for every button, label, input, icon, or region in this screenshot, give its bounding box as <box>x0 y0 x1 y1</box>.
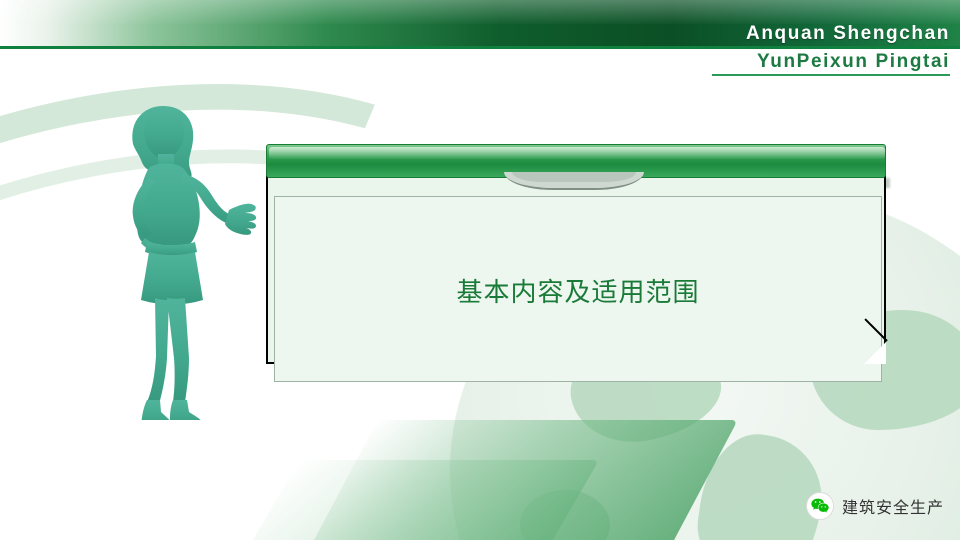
panel-cap-gloss <box>269 147 885 159</box>
slide-canvas: Anquan Shengchan YunPeixun Pingtai <box>0 0 960 540</box>
wechat-badge: 建筑安全生产 <box>806 492 944 520</box>
panel-folded-corner <box>864 342 886 364</box>
wechat-label: 建筑安全生产 <box>842 494 944 518</box>
panel-body: 基本内容及适用范围 <box>266 166 886 364</box>
content-panel: 基本内容及适用范围 <box>266 144 890 366</box>
wechat-icon <box>806 492 834 520</box>
banner-gloss <box>0 0 960 24</box>
header-title-underline <box>712 74 950 76</box>
panel-title-text: 基本内容及适用范围 <box>268 272 888 309</box>
woman-silhouette <box>75 100 275 420</box>
header-title-line2: YunPeixun Pingtai <box>746 52 950 71</box>
header-title-block: Anquan Shengchan YunPeixun Pingtai <box>746 24 950 71</box>
panel-notch-inner <box>512 172 636 182</box>
wechat-glyph <box>810 496 830 516</box>
header-title-line1: Anquan Shengchan <box>746 24 950 47</box>
